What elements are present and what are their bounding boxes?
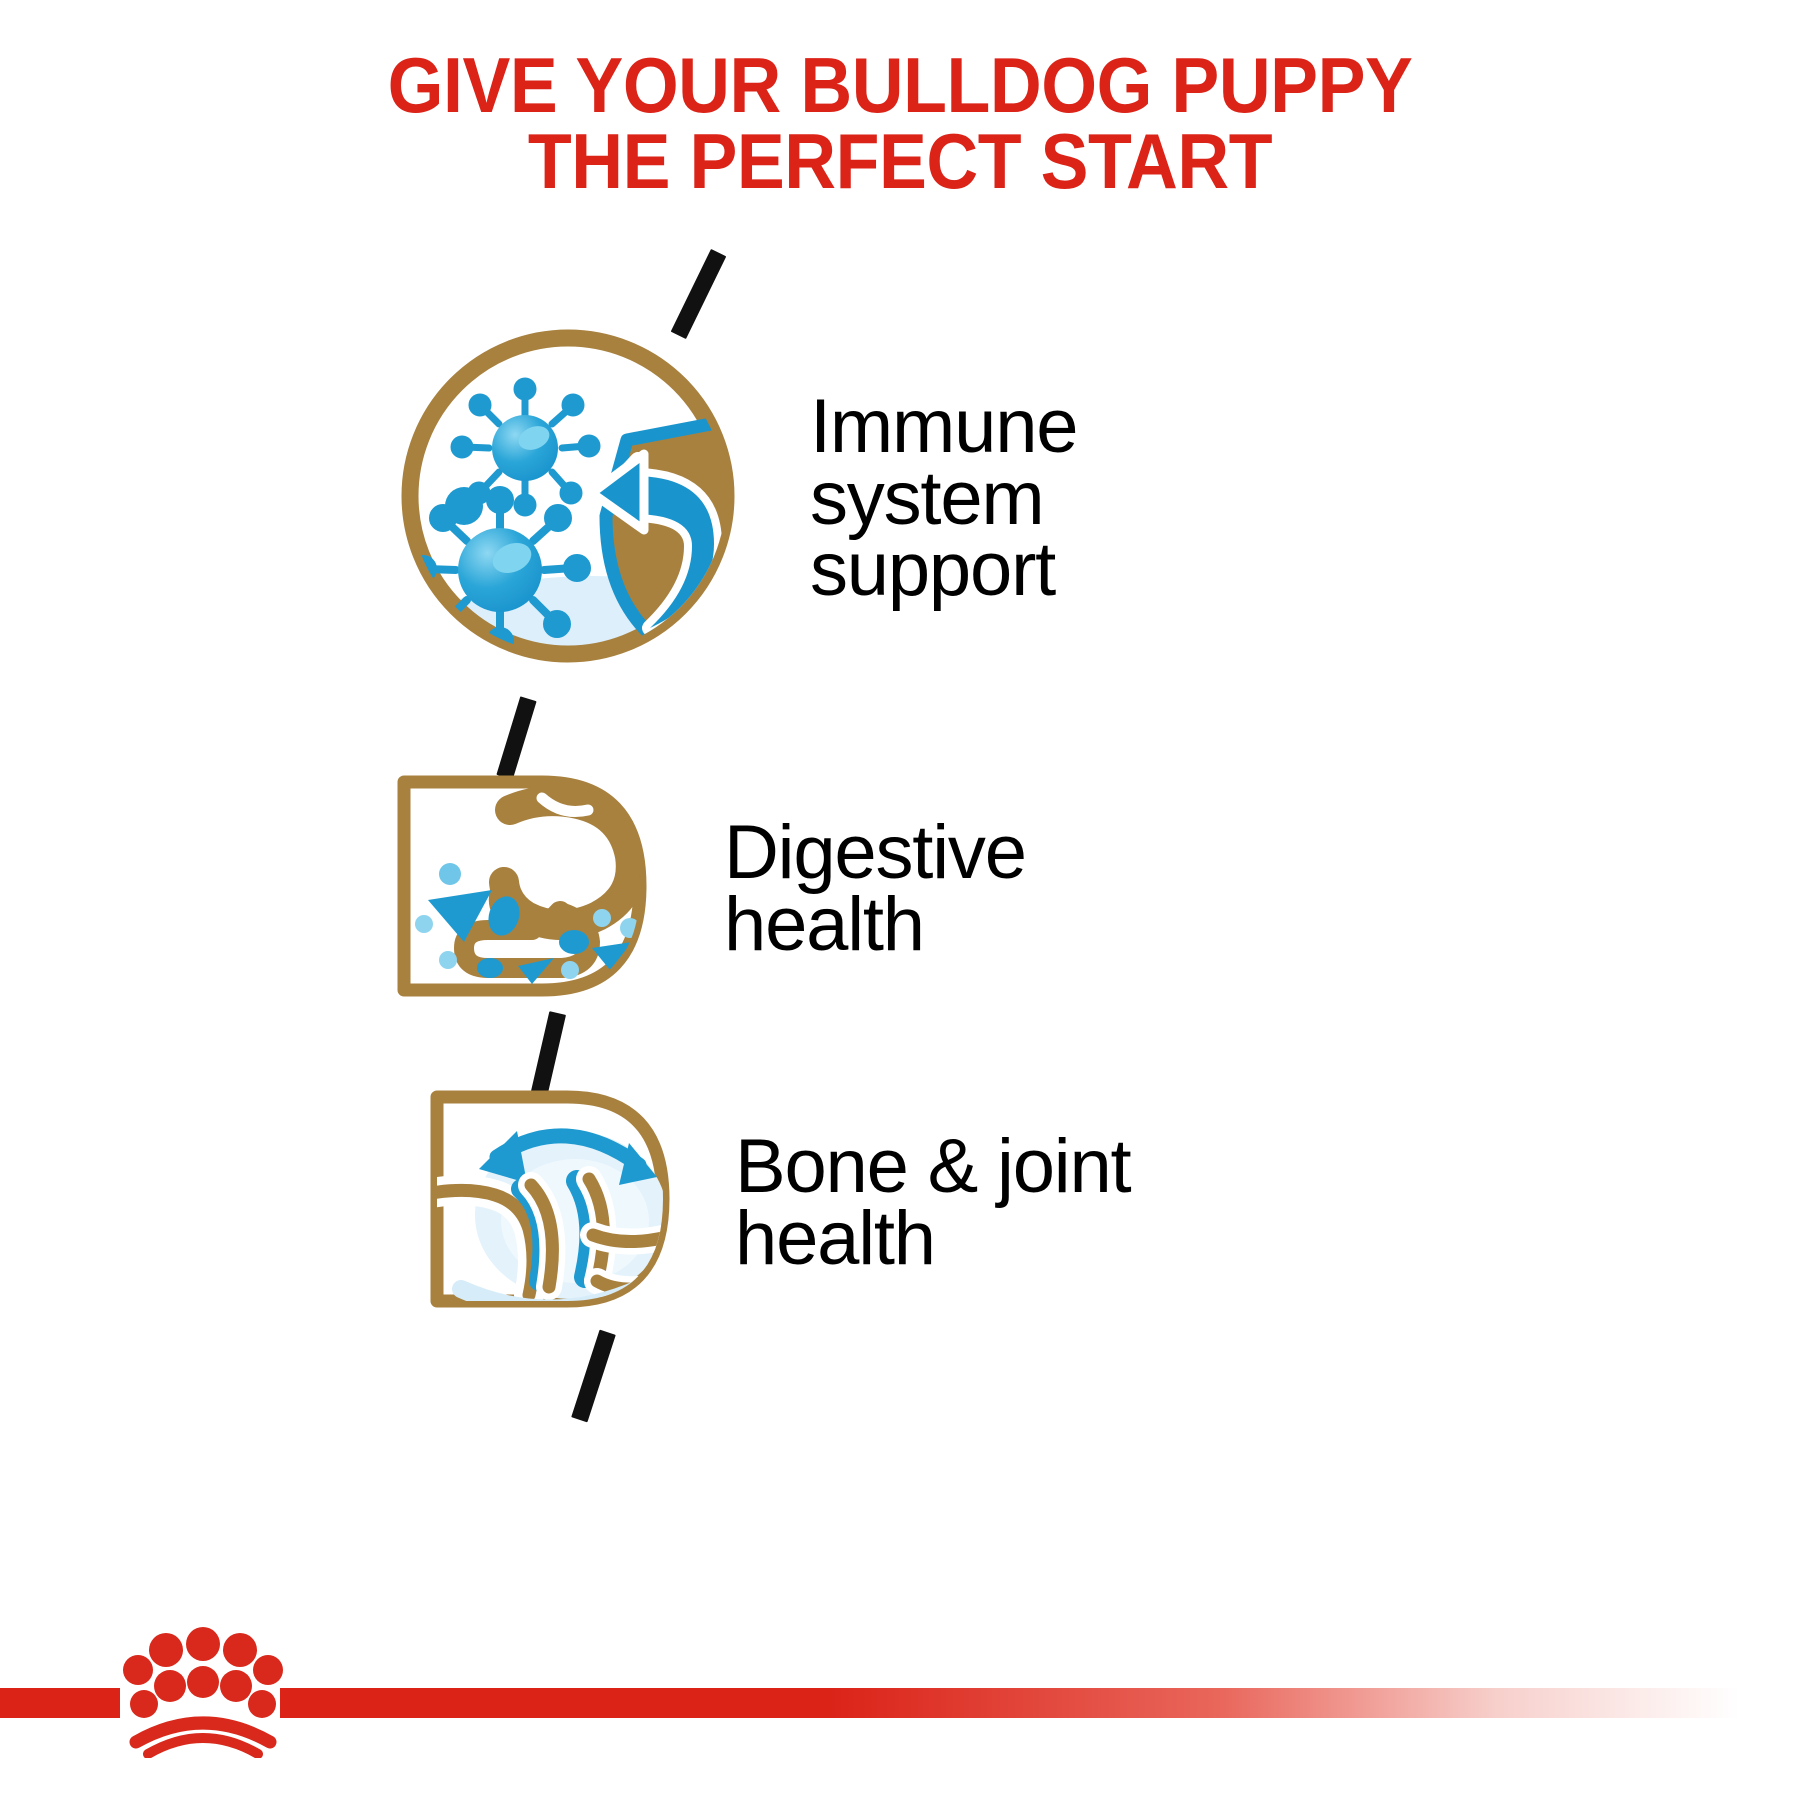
connector-dash-2-3 [531,1011,566,1095]
benefit-row-digestive: Digestive health [392,770,1026,1007]
immune-icon-wrap [392,320,744,677]
royal-canin-crown-logo [118,1618,288,1758]
benefit-label-digestive: Digestive health [724,817,1026,960]
page-title: GIVE YOUR BULLDOG PUPPY THE PERFECT STAR… [72,48,1728,199]
bone-icon-wrap [425,1085,673,1320]
connector-dash-bottom [571,1330,616,1423]
immune-shield-icon [392,320,744,672]
digestive-stomach-icon [392,770,652,1002]
connector-dash-1-2 [496,696,536,779]
benefit-row-immune: Immune system support [392,320,1077,677]
footer-bar-right [280,1688,1800,1718]
benefit-row-bone: Bone & joint health [425,1085,1130,1320]
footer-bar-left [0,1688,120,1718]
bone-joint-icon [425,1085,673,1315]
benefit-label-bone: Bone & joint health [735,1131,1130,1274]
digestive-icon-wrap [392,770,652,1007]
footer [0,1600,1800,1800]
benefit-label-immune: Immune system support [810,391,1077,605]
